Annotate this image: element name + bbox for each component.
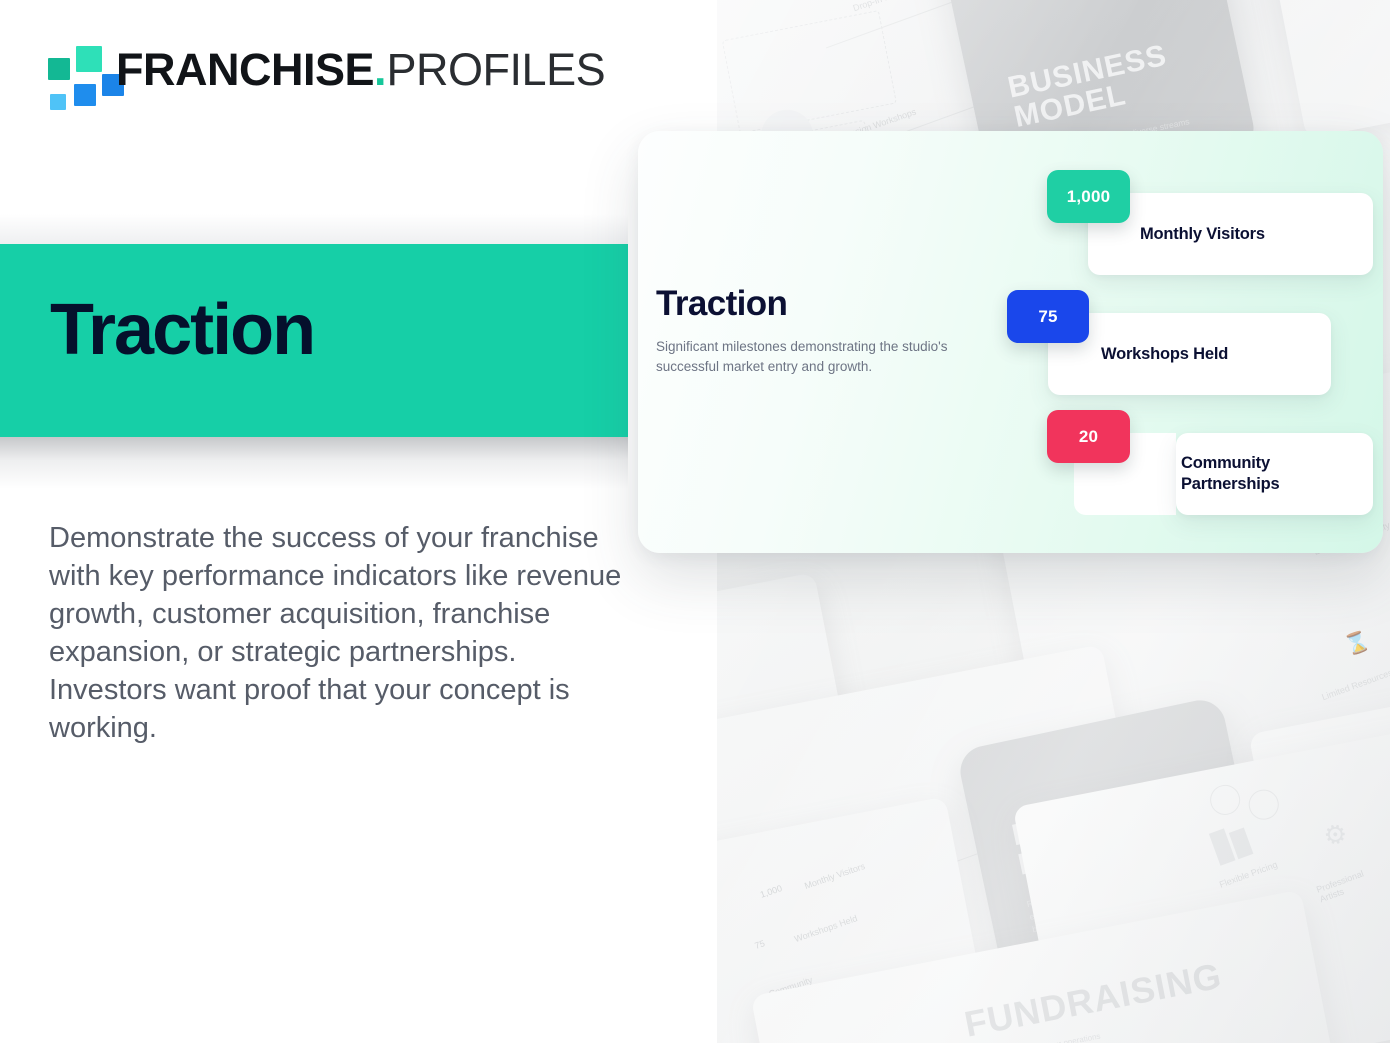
- logo-word-light: PROFILES: [387, 44, 606, 96]
- bg-label: Limited Resources: [1320, 665, 1390, 702]
- bg-business-model-title: BUSINESS MODEL: [1005, 41, 1175, 133]
- logo-word-bold: FRANCHISE: [116, 44, 374, 96]
- metric-label: Workshops Held: [1101, 344, 1228, 365]
- slide-canvas: Drop-In Fees Session Workshops Commissio…: [0, 0, 1390, 1043]
- metric-card-workshops-held[interactable]: Workshops Held: [1048, 313, 1331, 395]
- logo-square-teal-bright: [76, 46, 102, 72]
- metric-card-community-partnerships[interactable]: Community Partnerships: [1176, 433, 1373, 515]
- logo-square-blue-bright: [74, 84, 96, 106]
- panel-title: Traction: [656, 286, 976, 321]
- logo-square-blue-light: [50, 94, 66, 110]
- metric-label: Monthly Visitors: [1140, 224, 1265, 245]
- bg-label: Monthly Visitors: [803, 861, 866, 891]
- metric-badge-workshops-held[interactable]: 75: [1007, 290, 1089, 343]
- logo-mark-squares: [44, 38, 116, 102]
- banner-top-shadow: [0, 214, 628, 244]
- panel-heading-block: Traction Significant milestones demonstr…: [656, 286, 976, 376]
- metric-value: 1,000: [1067, 187, 1111, 207]
- metric-badge-monthly-visitors[interactable]: 1,000: [1047, 170, 1130, 223]
- logo-square-teal-dark: [48, 58, 70, 80]
- metric-badge-community-partnerships[interactable]: 20: [1047, 410, 1130, 463]
- brand-logo[interactable]: FRANCHISE.PROFILES: [44, 38, 544, 110]
- metric-value: 20: [1079, 427, 1098, 447]
- hourglass-icon: ⌛: [1342, 630, 1372, 657]
- metric-card-monthly-visitors[interactable]: Monthly Visitors: [1088, 193, 1373, 275]
- section-description: Demonstrate the success of your franchis…: [49, 520, 629, 748]
- logo-wordmark: FRANCHISE.PROFILES: [116, 38, 605, 102]
- gear-icon: ⚙: [1320, 818, 1351, 850]
- bg-label: 75: [753, 938, 766, 951]
- bg-fundraising-title: FUNDRAISING: [961, 957, 1224, 1043]
- banner-drop-shadow: [0, 437, 628, 489]
- section-banner: Traction: [0, 244, 628, 437]
- bg-slide-topright: [1253, 0, 1390, 139]
- metric-label: Community Partnerships: [1176, 453, 1279, 494]
- bg-label: Workshops Held: [793, 913, 859, 944]
- metric-value: 75: [1038, 307, 1057, 327]
- page-title: Traction: [50, 294, 314, 366]
- panel-subtitle: Significant milestones demonstrating the…: [656, 337, 956, 376]
- bg-label: Professional Artists: [1315, 859, 1390, 904]
- traction-preview-panel[interactable]: Traction Significant milestones demonstr…: [638, 131, 1383, 553]
- bg-label: 1,000: [759, 883, 784, 900]
- logo-dot: .: [374, 44, 387, 96]
